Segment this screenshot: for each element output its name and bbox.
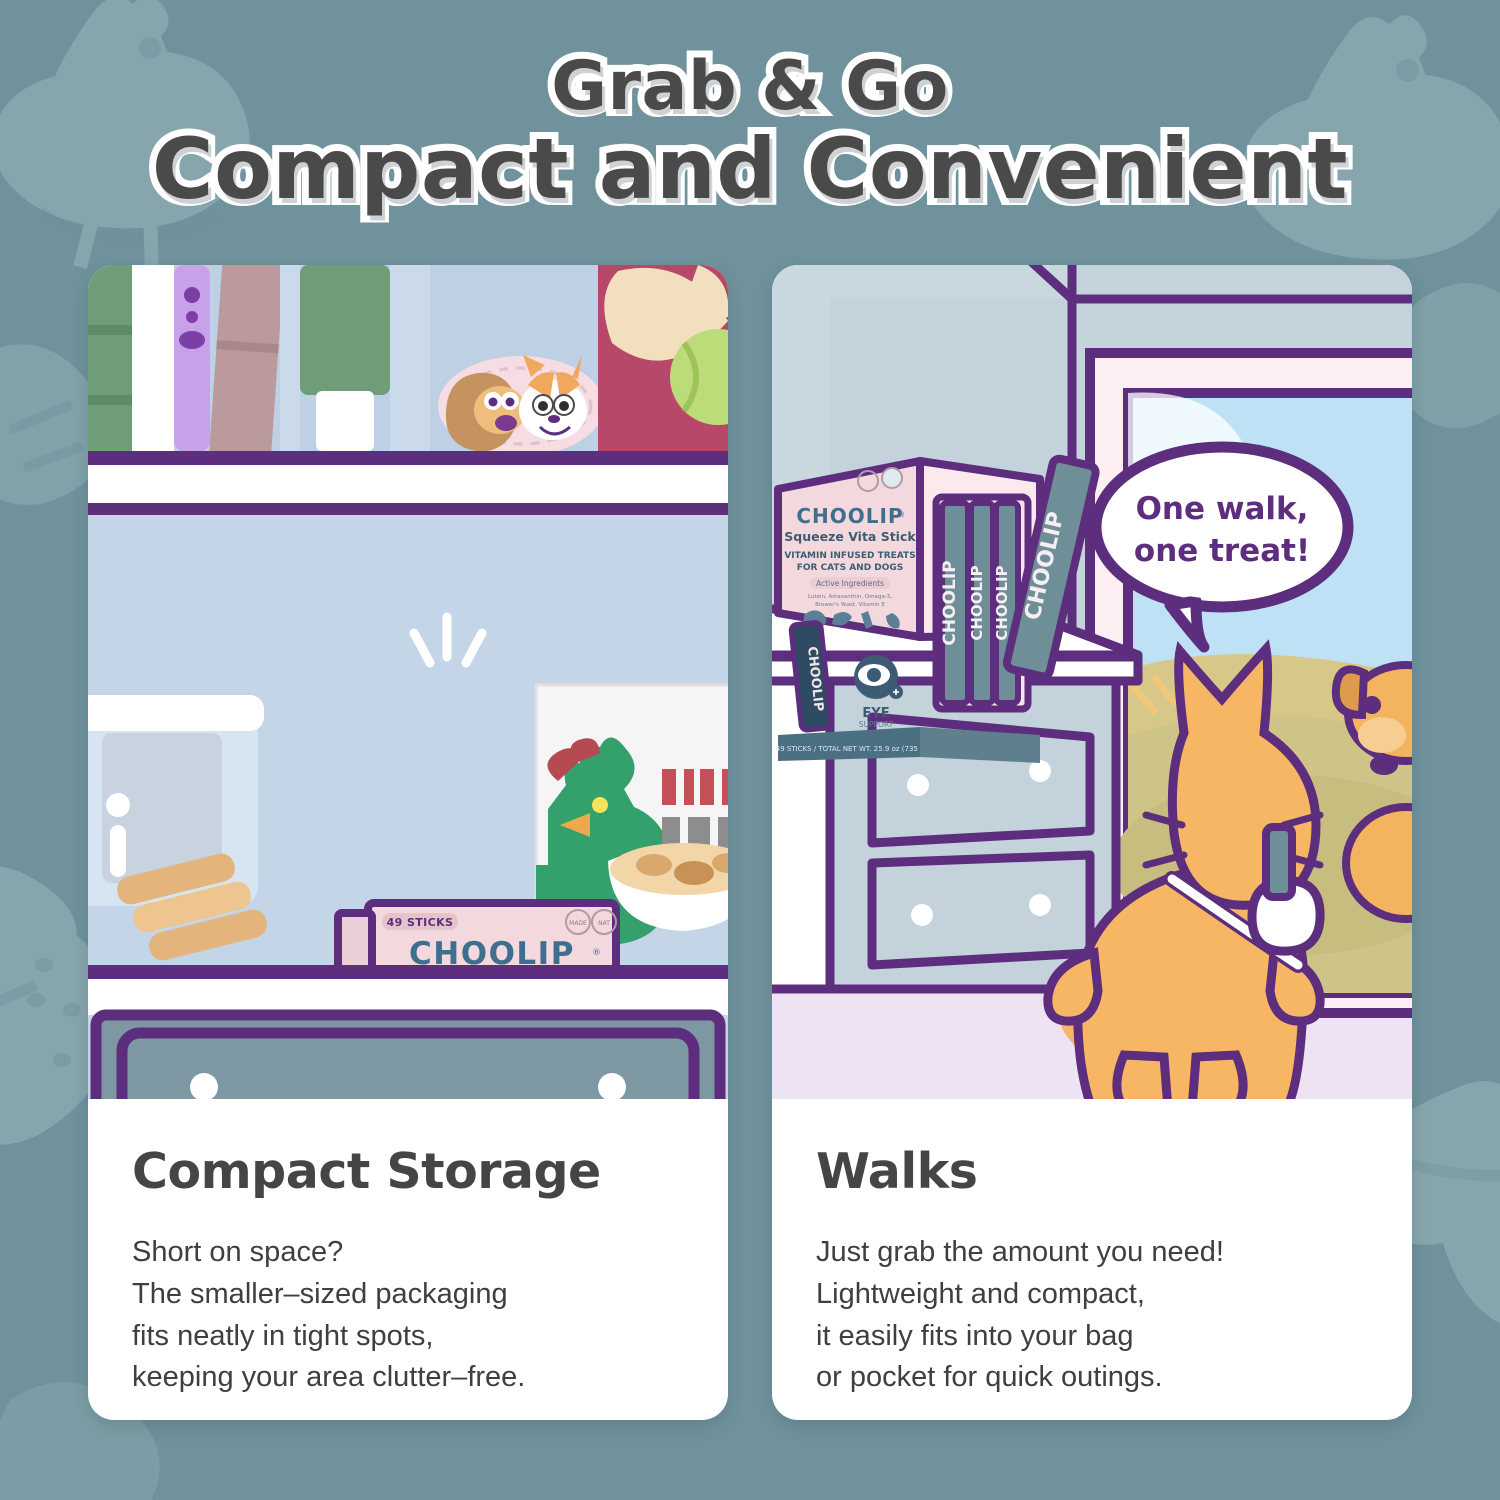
counter-and-drawer xyxy=(88,965,728,1099)
svg-text:CHOOLIP: CHOOLIP xyxy=(940,560,960,645)
svg-text:Lutein, Astaxanthin, Omega-3,: Lutein, Astaxanthin, Omega-3, xyxy=(808,594,892,600)
card-walks: One walk, one treat! xyxy=(772,265,1412,1420)
card-body-line: Short on space? xyxy=(132,1232,684,1274)
drawer-knob xyxy=(907,774,929,796)
page-title: Grab & Go Compact and Convenient xyxy=(0,52,1500,213)
svg-text:49 STICKS: 49 STICKS xyxy=(387,916,454,929)
svg-text:CHOOLIP: CHOOLIP xyxy=(993,565,1011,640)
card-body: Short on space? The smaller–sized packag… xyxy=(132,1232,684,1399)
card-compact-storage: CHOOLIP CHOOLIP CHOOLIP CHOOLIP xyxy=(88,265,728,1420)
card-body-line: keeping your area clutter–free. xyxy=(132,1357,684,1399)
drawer-knob xyxy=(911,904,933,926)
card-body-line: or pocket for quick outings. xyxy=(816,1357,1368,1399)
card-body-line: The smaller–sized packaging xyxy=(132,1274,684,1316)
drawer-knob xyxy=(1029,894,1051,916)
svg-text:CHOOLIP: CHOOLIP xyxy=(796,504,903,528)
card-body-line: it easily fits into your bag xyxy=(816,1316,1368,1358)
tube xyxy=(300,265,390,395)
doorway-scene-svg: One walk, one treat! xyxy=(772,265,1412,1099)
card-text-compact-storage: Compact Storage Short on space? The smal… xyxy=(88,1099,728,1399)
card-body: Just grab the amount you need! Lightweig… xyxy=(816,1232,1368,1399)
svg-text:X 49 STICKS / TOTAL NET WT. 25: X 49 STICKS / TOTAL NET WT. 25.9 oz (735… xyxy=(772,745,928,753)
svg-text:®: ® xyxy=(898,511,905,519)
svg-text:®: ® xyxy=(592,948,601,958)
card-text-walks: Walks Just grab the amount you need! Lig… xyxy=(772,1099,1412,1399)
feature-cards: CHOOLIP CHOOLIP CHOOLIP CHOOLIP xyxy=(88,265,1412,1420)
card-title: Walks xyxy=(816,1143,1368,1200)
svg-text:NAT: NAT xyxy=(598,920,610,927)
speech-line-1: One walk, xyxy=(1136,491,1309,527)
book xyxy=(88,265,132,451)
card-title: Compact Storage xyxy=(132,1143,684,1200)
drawer-knob xyxy=(1029,760,1051,782)
card-body-line: Lightweight and compact, xyxy=(816,1274,1368,1316)
svg-text:FOR CATS AND DOGS: FOR CATS AND DOGS xyxy=(797,563,904,573)
upright-sticks: CHOOLIP CHOOLIP CHOOLIP xyxy=(940,503,1018,703)
svg-text:CHOOLIP: CHOOLIP xyxy=(968,565,986,640)
svg-text:Squeeze Vita Stick: Squeeze Vita Stick xyxy=(784,529,916,544)
svg-text:VITAMIN INFUSED TREATS: VITAMIN INFUSED TREATS xyxy=(784,551,915,561)
card-body-line: fits neatly in tight spots, xyxy=(132,1316,684,1358)
speech-line-2: one treat! xyxy=(1134,533,1310,569)
card-body-line: Just grab the amount you need! xyxy=(816,1232,1368,1274)
svg-text:Brewer's Yeast, Vitamin E: Brewer's Yeast, Vitamin E xyxy=(815,602,885,608)
svg-text:Active Ingredients: Active Ingredients xyxy=(816,579,884,588)
illustration-cupboard: CHOOLIP CHOOLIP CHOOLIP CHOOLIP xyxy=(88,265,728,1099)
title-line-2: Compact and Convenient xyxy=(0,127,1500,213)
svg-text:EYE: EYE xyxy=(862,706,889,721)
svg-text:SUPPORT: SUPPORT xyxy=(859,720,894,729)
svg-text:MADE: MADE xyxy=(569,920,587,927)
illustration-doorway: One walk, one treat! xyxy=(772,265,1412,1099)
title-line-1: Grab & Go xyxy=(0,52,1500,121)
